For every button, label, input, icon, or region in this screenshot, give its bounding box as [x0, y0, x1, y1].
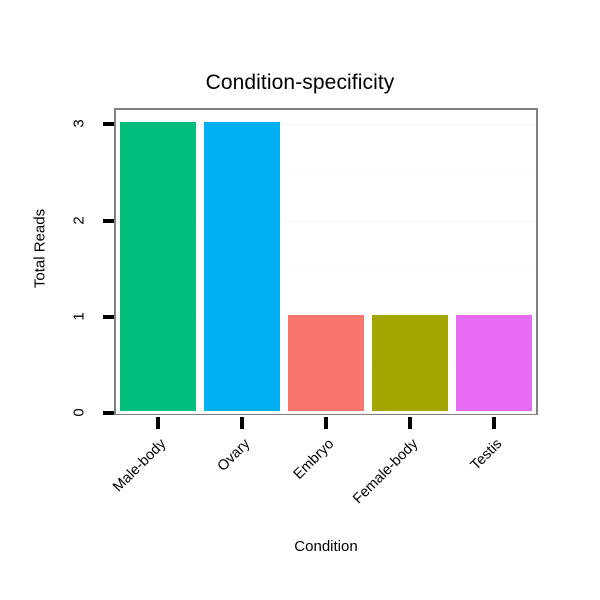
chart-title: Condition-specificity: [0, 70, 600, 95]
y-tick-mark-1: [103, 315, 114, 319]
x-tick-label-female-body: Female-body: [269, 436, 422, 589]
y-tick-label-1: 1: [72, 299, 87, 333]
y-tick-label-3: 3: [72, 107, 87, 141]
bar-series: [116, 110, 536, 413]
x-axis-title: Condition: [114, 538, 538, 556]
x-tick-mark-2: [324, 417, 328, 429]
y-tick-label-2: 2: [72, 203, 87, 237]
x-tick-mark-4: [492, 417, 496, 429]
x-tick-label-ovary: Ovary: [101, 436, 254, 589]
bar-testis[interactable]: [456, 315, 532, 411]
bar-male-body[interactable]: [120, 122, 196, 411]
y-tick-mark-0: [103, 411, 114, 415]
gridline-major-0: [116, 413, 536, 414]
chart-plot-area: Condition-specificity Total Reads 0123 M…: [0, 0, 600, 600]
y-axis-title: Total Reads: [32, 189, 49, 309]
x-tick-label-male-body: Male-body: [17, 436, 170, 589]
bar-female-body[interactable]: [372, 315, 448, 411]
y-tick-mark-3: [103, 122, 114, 126]
x-tick-mark-0: [156, 417, 160, 429]
plot-panel: [114, 108, 538, 415]
x-tick-mark-3: [408, 417, 412, 429]
x-tick-label-embryo: Embryo: [185, 436, 338, 589]
bar-ovary[interactable]: [204, 122, 280, 411]
y-tick-label-0: 0: [72, 396, 87, 430]
bar-embryo[interactable]: [288, 315, 364, 411]
x-tick-label-testis: Testis: [353, 436, 506, 589]
x-tick-mark-1: [240, 417, 244, 429]
y-tick-mark-2: [103, 219, 114, 223]
